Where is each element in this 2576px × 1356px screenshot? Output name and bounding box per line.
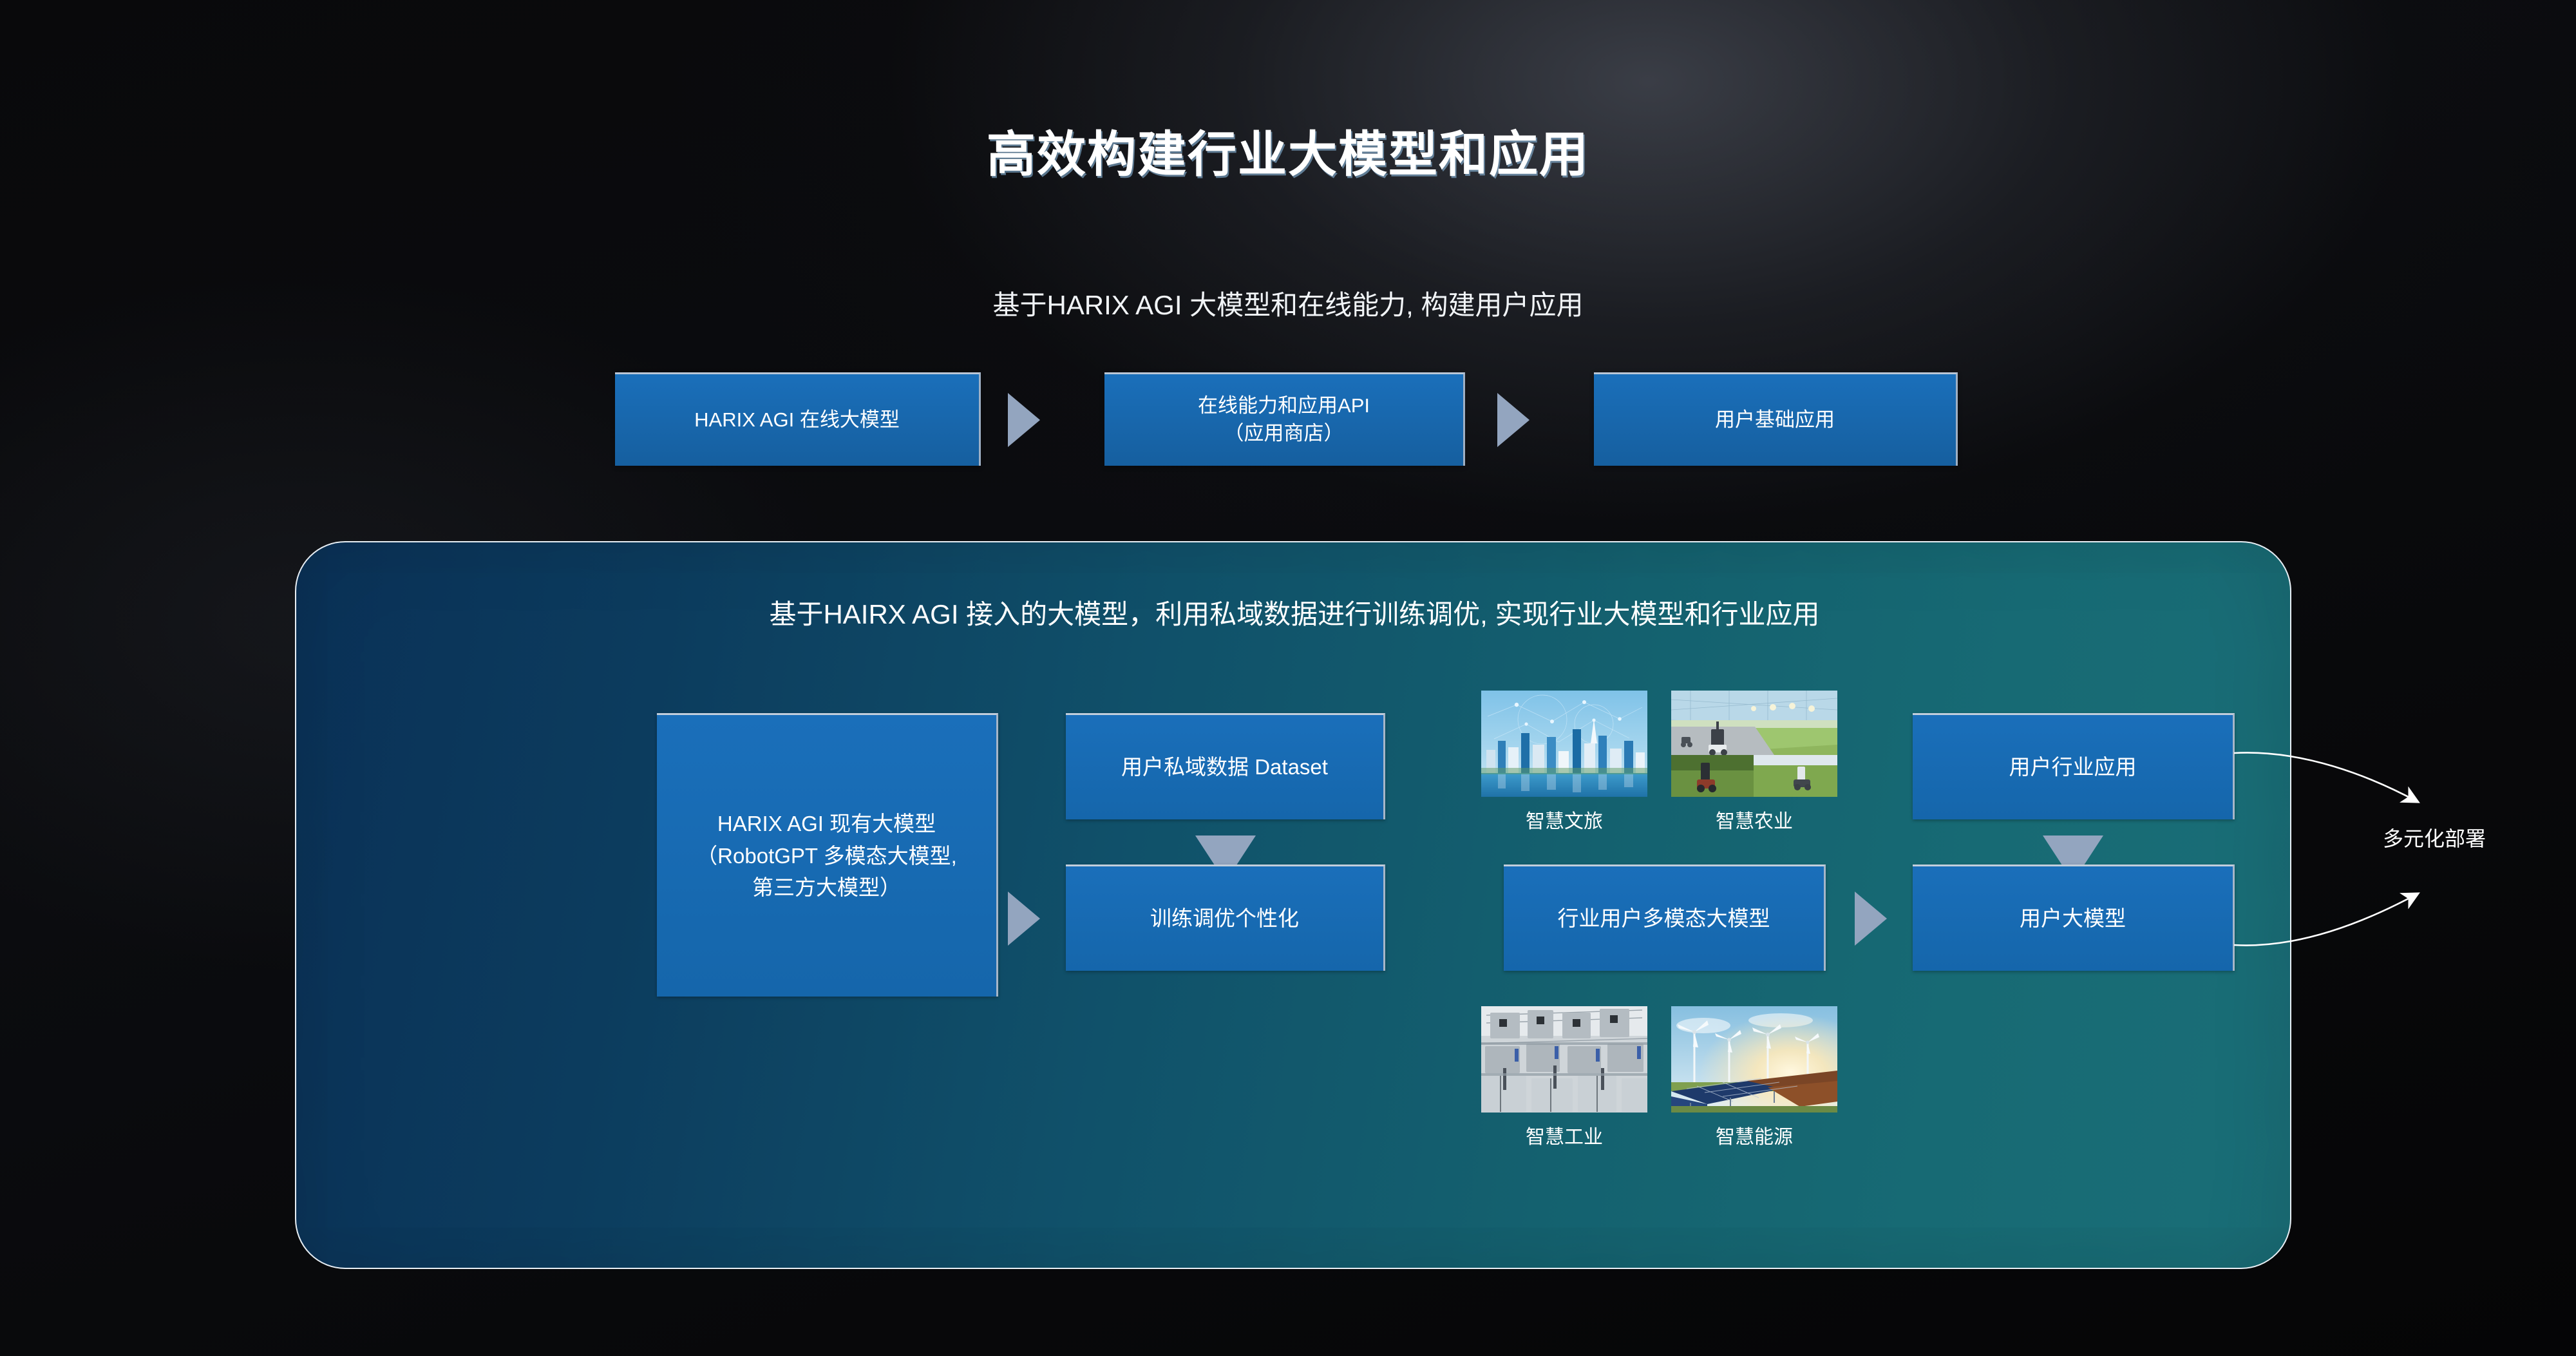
smart-energy-illustration — [1671, 1006, 1837, 1112]
deploy-arrow-upper — [2234, 752, 2416, 801]
thumbnail-smart-culture-tourism: 智慧文旅 — [1481, 691, 1647, 834]
box-user-industry-app[interactable]: 用户行业应用 — [1913, 713, 2235, 819]
triangle-right-icon — [1497, 393, 1529, 447]
deployment-label: 多元化部署 — [2338, 823, 2531, 852]
existing-model-line2: （RobotGPT 多模态大模型, — [696, 844, 957, 868]
box-existing-large-model-label: HARIX AGI 现有大模型 （RobotGPT 多模态大模型, 第三方大模型… — [696, 808, 957, 904]
top-flow-row: HARIX AGI 在线大模型 在线能力和应用API （应用商店） 用户基础应用 — [615, 372, 1987, 466]
smart-agriculture-illustration — [1671, 691, 1837, 797]
triangle-right-icon — [1855, 892, 1887, 946]
smart-industry-image — [1481, 1006, 1647, 1112]
top-box-online-capability-api[interactable]: 在线能力和应用API （应用商店） — [1104, 372, 1465, 466]
existing-model-line1: HARIX AGI 现有大模型 — [717, 812, 936, 836]
triangle-right-icon — [1008, 892, 1040, 946]
box-user-large-model-label: 用户大模型 — [2020, 902, 2126, 935]
thumbnail-smart-agriculture: 智慧农业 — [1671, 691, 1837, 834]
smart-city-image — [1481, 691, 1647, 797]
triangle-right-icon — [1008, 393, 1040, 447]
thumbnail-smart-industry: 智慧工业 — [1481, 1006, 1647, 1149]
thumbnail-caption: 智慧农业 — [1671, 805, 1837, 834]
smart-energy-image — [1671, 1006, 1837, 1112]
thumbnail-caption: 智慧能源 — [1671, 1121, 1837, 1149]
top-box-label-2-line1: 在线能力和应用API — [1198, 394, 1370, 417]
box-private-dataset-label: 用户私域数据 Dataset — [1121, 751, 1328, 783]
box-training-tuning[interactable]: 训练调优个性化 — [1066, 864, 1385, 971]
top-box-harix-online-model[interactable]: HARIX AGI 在线大模型 — [615, 372, 981, 466]
main-panel-subtitle: 基于HAIRX AGI 接入的大模型，利用私域数据进行训练调优, 实现行业大模型… — [296, 593, 2293, 632]
smart-industry-illustration — [1481, 1006, 1647, 1112]
box-existing-large-model[interactable]: HARIX AGI 现有大模型 （RobotGPT 多模态大模型, 第三方大模型… — [657, 713, 998, 997]
top-box-user-basic-app[interactable]: 用户基础应用 — [1594, 372, 1958, 466]
slide-canvas: 高效构建行业大模型和应用 基于HARIX AGI 大模型和在线能力, 构建用户应… — [0, 0, 2576, 1356]
box-user-large-model[interactable]: 用户大模型 — [1913, 864, 2235, 971]
box-private-dataset[interactable]: 用户私域数据 Dataset — [1066, 713, 1385, 819]
box-industry-multimodal-model[interactable]: 行业用户多模态大模型 — [1504, 864, 1826, 971]
top-box-label-3: 用户基础应用 — [1715, 406, 1835, 434]
top-section-subtitle: 基于HARIX AGI 大模型和在线能力, 构建用户应用 — [0, 283, 2576, 323]
existing-model-line3: 第三方大模型） — [752, 875, 901, 899]
box-industry-multimodal-model-label: 行业用户多模态大模型 — [1558, 902, 1770, 935]
box-user-industry-app-label: 用户行业应用 — [2009, 751, 2137, 783]
thumbnail-smart-energy: 智慧能源 — [1671, 1006, 1837, 1149]
thumbnail-caption: 智慧工业 — [1481, 1121, 1647, 1149]
box-training-tuning-label: 训练调优个性化 — [1150, 902, 1299, 935]
top-box-label-1: HARIX AGI 在线大模型 — [694, 406, 900, 434]
smart-city-illustration — [1481, 691, 1647, 797]
smart-agriculture-image — [1671, 691, 1837, 797]
page-title: 高效构建行业大模型和应用 — [0, 115, 2576, 186]
top-box-label-2-line2: （应用商店） — [1224, 422, 1344, 444]
deploy-arrow-lower — [2234, 895, 2416, 946]
top-box-label-2: 在线能力和应用API （应用商店） — [1198, 392, 1370, 448]
thumbnail-caption: 智慧文旅 — [1481, 805, 1647, 834]
main-panel: 基于HAIRX AGI 接入的大模型，利用私域数据进行训练调优, 实现行业大模型… — [295, 541, 2291, 1269]
